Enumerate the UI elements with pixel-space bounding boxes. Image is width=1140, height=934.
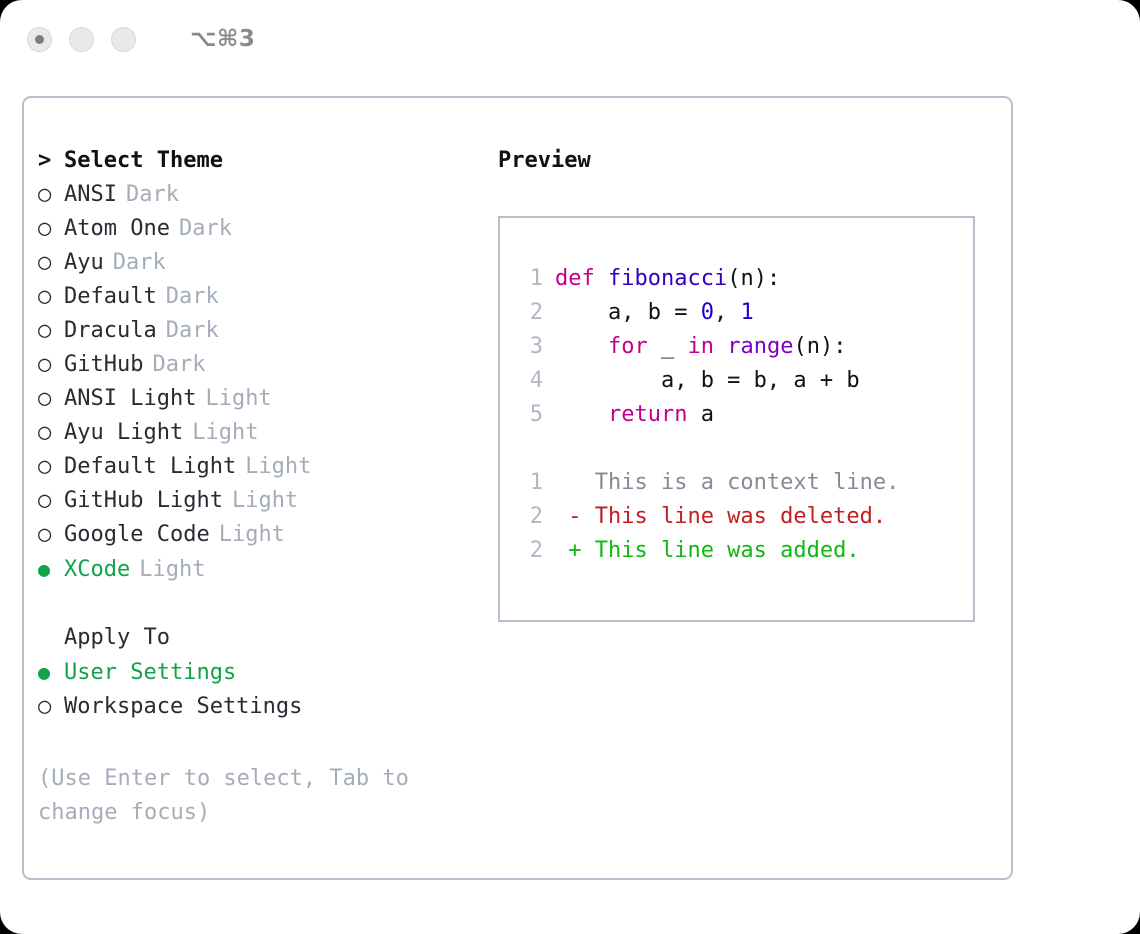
code-token: in <box>687 334 714 359</box>
theme-item-atom-one[interactable]: ○Atom OneDark <box>38 212 498 246</box>
code-line: 1def fibonacci(n): <box>500 262 973 296</box>
radio-unselected-icon[interactable]: ○ <box>38 690 64 724</box>
theme-item-github-light[interactable]: ○GitHub LightLight <box>38 484 498 518</box>
theme-selection-panel: > Select Theme ○ANSIDark○Atom OneDark○Ay… <box>38 144 498 724</box>
theme-item-kind: Light <box>245 450 311 484</box>
apply-to-item-workspace-settings[interactable]: ○Workspace Settings <box>38 690 498 724</box>
code-token: fibonacci <box>608 266 727 291</box>
code-line-content: - This line was deleted. <box>555 500 886 534</box>
apply-to-list: ●User Settings○Workspace Settings <box>38 655 498 724</box>
radio-unselected-icon[interactable]: ○ <box>38 382 64 416</box>
list-spacer <box>38 587 498 621</box>
theme-item-ansi[interactable]: ○ANSIDark <box>38 178 498 212</box>
title-bar: ⌥⌘3 <box>0 0 1140 78</box>
theme-item-google-code[interactable]: ○Google CodeLight <box>38 518 498 552</box>
code-token: 0 <box>701 300 714 325</box>
theme-item-github[interactable]: ○GitHubDark <box>38 348 498 382</box>
theme-item-name: Google Code <box>64 518 210 552</box>
preview-panel: Preview 1def fibonacci(n):2 a, b = 0, 13… <box>498 144 998 622</box>
code-token: + This line was added. <box>555 538 860 563</box>
radio-selected-icon[interactable]: ● <box>38 552 64 586</box>
radio-unselected-icon[interactable]: ○ <box>38 484 64 518</box>
preview-box: 1def fibonacci(n):2 a, b = 0, 13 for _ i… <box>498 216 975 622</box>
code-token: This is a context line. <box>555 470 899 495</box>
code-sample: 1def fibonacci(n):2 a, b = 0, 13 for _ i… <box>500 262 973 432</box>
radio-unselected-icon[interactable]: ○ <box>38 314 64 348</box>
code-line: 3 for _ in range(n): <box>500 330 973 364</box>
code-line-content: a, b = 0, 1 <box>555 296 754 330</box>
theme-list: ○ANSIDark○Atom OneDark○AyuDark○DefaultDa… <box>38 178 498 587</box>
code-token: , <box>714 300 741 325</box>
theme-item-name: GitHub Light <box>64 484 223 518</box>
apply-to-item-user-settings[interactable]: ●User Settings <box>38 655 498 690</box>
traffic-light-2-icon[interactable] <box>69 27 94 52</box>
theme-item-default[interactable]: ○DefaultDark <box>38 280 498 314</box>
code-token: a, b = b, a + b <box>555 368 860 393</box>
app-window: ⌥⌘3 > Select Theme ○ANSIDark○Atom OneDar… <box>0 0 1140 934</box>
theme-item-kind: Light <box>205 382 271 416</box>
theme-item-name: ANSI Light <box>64 382 196 416</box>
select-theme-heading: > Select Theme <box>38 144 498 178</box>
radio-unselected-icon[interactable]: ○ <box>38 280 64 314</box>
code-token: for <box>608 334 648 359</box>
theme-item-dracula[interactable]: ○DraculaDark <box>38 314 498 348</box>
diff-line: 2 - This line was deleted. <box>500 500 973 534</box>
theme-item-name: Ayu <box>64 246 104 280</box>
line-number: 1 <box>513 466 543 500</box>
theme-item-xcode[interactable]: ●XCodeLight <box>38 552 498 587</box>
theme-item-name: ANSI <box>64 178 117 212</box>
code-token <box>555 334 608 359</box>
code-line-content: for _ in range(n): <box>555 330 846 364</box>
code-line: 5 return a <box>500 398 973 432</box>
code-line-content: + This line was added. <box>555 534 860 568</box>
preview-title: Preview <box>498 144 998 178</box>
line-number: 1 <box>513 262 543 296</box>
apply-to-heading-label: Apply To <box>64 621 170 655</box>
code-token: (n): <box>727 266 780 291</box>
line-number: 5 <box>513 398 543 432</box>
theme-item-name: Default <box>64 280 157 314</box>
theme-item-ansi-light[interactable]: ○ANSI LightLight <box>38 382 498 416</box>
radio-unselected-icon[interactable]: ○ <box>38 416 64 450</box>
code-token: a <box>687 402 714 427</box>
window-controls <box>27 27 136 52</box>
diff-line: 2 + This line was added. <box>500 534 973 568</box>
radio-unselected-icon[interactable]: ○ <box>38 518 64 552</box>
line-number: 2 <box>513 534 543 568</box>
theme-item-kind: Dark <box>126 178 179 212</box>
theme-item-kind: Dark <box>179 212 232 246</box>
theme-item-kind: Light <box>139 553 205 587</box>
theme-item-default-light[interactable]: ○Default LightLight <box>38 450 498 484</box>
apply-to-heading: · Apply To <box>38 621 498 655</box>
code-token: _ <box>648 334 688 359</box>
code-token: return <box>608 402 687 427</box>
code-token: - This line was deleted. <box>555 504 886 529</box>
theme-item-kind: Light <box>219 518 285 552</box>
theme-item-name: XCode <box>64 553 130 587</box>
radio-unselected-icon[interactable]: ○ <box>38 450 64 484</box>
theme-item-kind: Dark <box>152 348 205 382</box>
traffic-light-active-icon[interactable] <box>27 27 52 52</box>
code-line: 2 a, b = 0, 1 <box>500 296 973 330</box>
apply-to-marker-placeholder: · <box>38 621 64 655</box>
theme-item-kind: Light <box>232 484 298 518</box>
code-token <box>714 334 727 359</box>
code-token: def <box>555 266 608 291</box>
diff-sample: 1 This is a context line.2 - This line w… <box>500 466 973 568</box>
apply-to-item-name: User Settings <box>64 656 236 690</box>
code-line: 4 a, b = b, a + b <box>500 364 973 398</box>
theme-item-name: Atom One <box>64 212 170 246</box>
theme-item-ayu[interactable]: ○AyuDark <box>38 246 498 280</box>
theme-item-name: GitHub <box>64 348 143 382</box>
code-token: (n): <box>793 334 846 359</box>
apply-to-item-name: Workspace Settings <box>64 690 302 724</box>
code-line-content: This is a context line. <box>555 466 899 500</box>
radio-unselected-icon[interactable]: ○ <box>38 212 64 246</box>
line-number: 4 <box>513 364 543 398</box>
theme-item-kind: Dark <box>166 314 219 348</box>
theme-item-name: Ayu Light <box>64 416 183 450</box>
keyboard-hint: (Use Enter to select, Tab to change focu… <box>38 762 448 830</box>
line-number: 3 <box>513 330 543 364</box>
radio-unselected-icon[interactable]: ○ <box>38 178 64 212</box>
radio-unselected-icon[interactable]: ○ <box>38 246 64 280</box>
theme-item-ayu-light[interactable]: ○Ayu LightLight <box>38 416 498 450</box>
theme-item-kind: Dark <box>166 280 219 314</box>
code-line-content: return a <box>555 398 714 432</box>
traffic-light-inner-dot <box>35 35 44 44</box>
theme-item-kind: Light <box>192 416 258 450</box>
diff-line: 1 This is a context line. <box>500 466 973 500</box>
radio-selected-icon[interactable]: ● <box>38 655 64 689</box>
theme-item-kind: Dark <box>113 246 166 280</box>
radio-unselected-icon[interactable]: ○ <box>38 348 64 382</box>
theme-item-name: Default Light <box>64 450 236 484</box>
traffic-light-3-icon[interactable] <box>111 27 136 52</box>
caret-icon: > <box>38 144 64 178</box>
code-line-content: a, b = b, a + b <box>555 364 860 398</box>
select-theme-heading-label: Select Theme <box>64 144 223 178</box>
code-token: range <box>727 334 793 359</box>
code-token <box>555 402 608 427</box>
code-diff-spacer <box>500 432 973 466</box>
code-token: a, b = <box>555 300 701 325</box>
line-number: 2 <box>513 296 543 330</box>
theme-item-name: Dracula <box>64 314 157 348</box>
code-token: 1 <box>740 300 753 325</box>
keyboard-shortcut-label: ⌥⌘3 <box>190 26 255 52</box>
code-line-content: def fibonacci(n): <box>555 262 780 296</box>
line-number: 2 <box>513 500 543 534</box>
main-card: > Select Theme ○ANSIDark○Atom OneDark○Ay… <box>22 96 1013 880</box>
